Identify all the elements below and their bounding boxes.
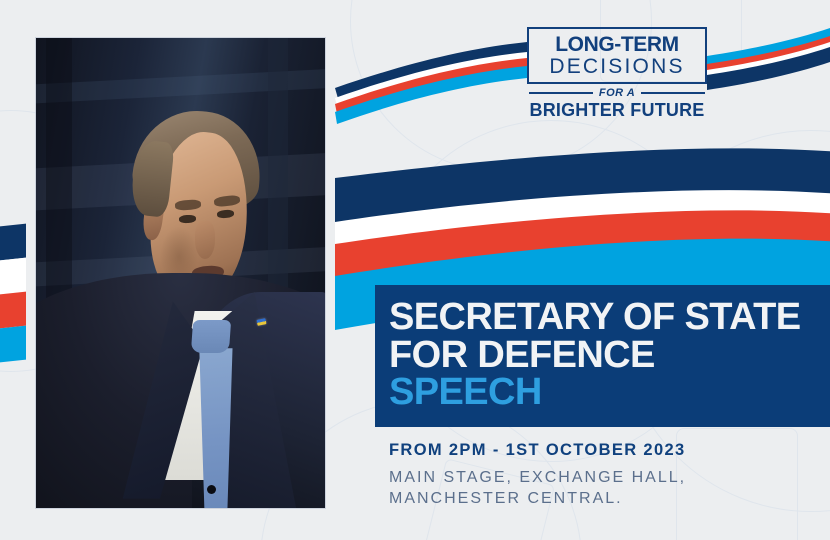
stripe-red [0,292,26,329]
headline-line-1: SECRETARY OF STATE [389,299,830,337]
stripe-white [0,258,26,295]
headline-navy-panel: SECRETARY OF STATE FOR DEFENCE SPEECH [375,285,830,427]
headline-text-group: SECRETARY OF STATE FOR DEFENCE SPEECH [389,299,830,412]
portrait-jacket-button [207,485,216,494]
logo-rule-right [641,92,705,95]
logo-rule-left [529,92,593,95]
logo-line-decisions: DECISIONS [535,56,699,78]
event-details: FROM 2PM - 1ST OCTOBER 2023 MAIN STAGE, … [389,441,819,510]
poster-canvas: LONG-TERM DECISIONS FOR A BRIGHTER FUTUR… [0,0,830,540]
logo-for-a-text: FOR A [599,87,635,99]
event-venue-line-2: MANCHESTER CENTRAL. [389,488,819,509]
left-edge-flag-stripes [0,224,26,363]
stripe-light-blue [0,326,26,363]
headline-line-3-speech: SPEECH [389,374,830,412]
portrait-eye [179,214,197,222]
campaign-logo: LONG-TERM DECISIONS FOR A BRIGHTER FUTUR… [527,27,707,119]
logo-for-a-row: FOR A [529,87,705,99]
portrait-nose [195,221,215,259]
speaker-portrait-photo [36,38,325,508]
logo-line-brighter-future: BRIGHTER FUTURE [527,101,707,119]
event-datetime: FROM 2PM - 1ST OCTOBER 2023 [389,441,819,460]
swoosh-top-right [707,28,830,90]
stripe-navy [0,224,26,261]
event-venue-line-1: MAIN STAGE, EXCHANGE HALL, [389,467,819,488]
logo-outline-box: LONG-TERM DECISIONS [527,27,707,84]
portrait-necktie-knot [191,320,231,353]
swoosh-top-left [335,42,527,124]
logo-line-long-term: LONG-TERM [535,34,699,55]
headline-line-2: FOR DEFENCE [389,337,830,375]
